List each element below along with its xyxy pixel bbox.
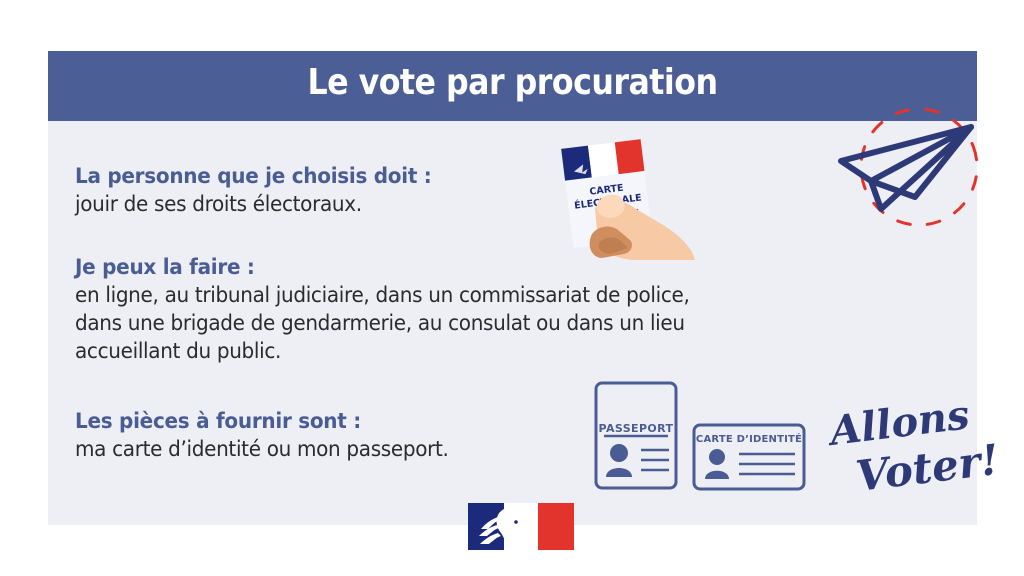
dashed-arc-decoration	[845, 93, 994, 242]
french-republic-marianne-logo	[468, 503, 574, 550]
block-body: jouir de ses droits électoraux.	[75, 191, 432, 219]
content-panel: Le vote par procuration La personne que …	[48, 51, 977, 525]
paper-plane-illustration	[819, 105, 1019, 235]
block-body: ma carte d’identité ou mon passeport.	[75, 436, 449, 464]
passport-document-icon: PASSEPORT	[596, 383, 676, 488]
passport-label: PASSEPORT	[599, 422, 674, 435]
block-heading: La personne que je choisis doit :	[75, 164, 432, 189]
text-block-person-requirements: La personne que je choisis doit : jouir …	[75, 164, 458, 219]
identity-documents-illustration: PASSEPORT CARTE D’IDENTITÉ	[593, 380, 808, 495]
identity-card-icon: CARTE D’IDENTITÉ	[694, 425, 804, 489]
block-body: en ligne, au tribunal judiciaire, dans u…	[75, 282, 690, 366]
allons-voter-logo: Allons Voter!	[826, 401, 986, 506]
page-title: Le vote par procuration	[104, 62, 922, 103]
identity-card-label: CARTE D’IDENTITÉ	[696, 432, 802, 445]
block-heading: Les pièces à fournir sont :	[75, 409, 449, 434]
slide-root: Le vote par procuration La personne que …	[0, 0, 1024, 576]
hand-holding-electoral-card-illustration: CARTE ÉLECTORALE	[540, 130, 720, 275]
text-block-required-documents: Les pièces à fournir sont : ma carte d’i…	[75, 409, 477, 464]
